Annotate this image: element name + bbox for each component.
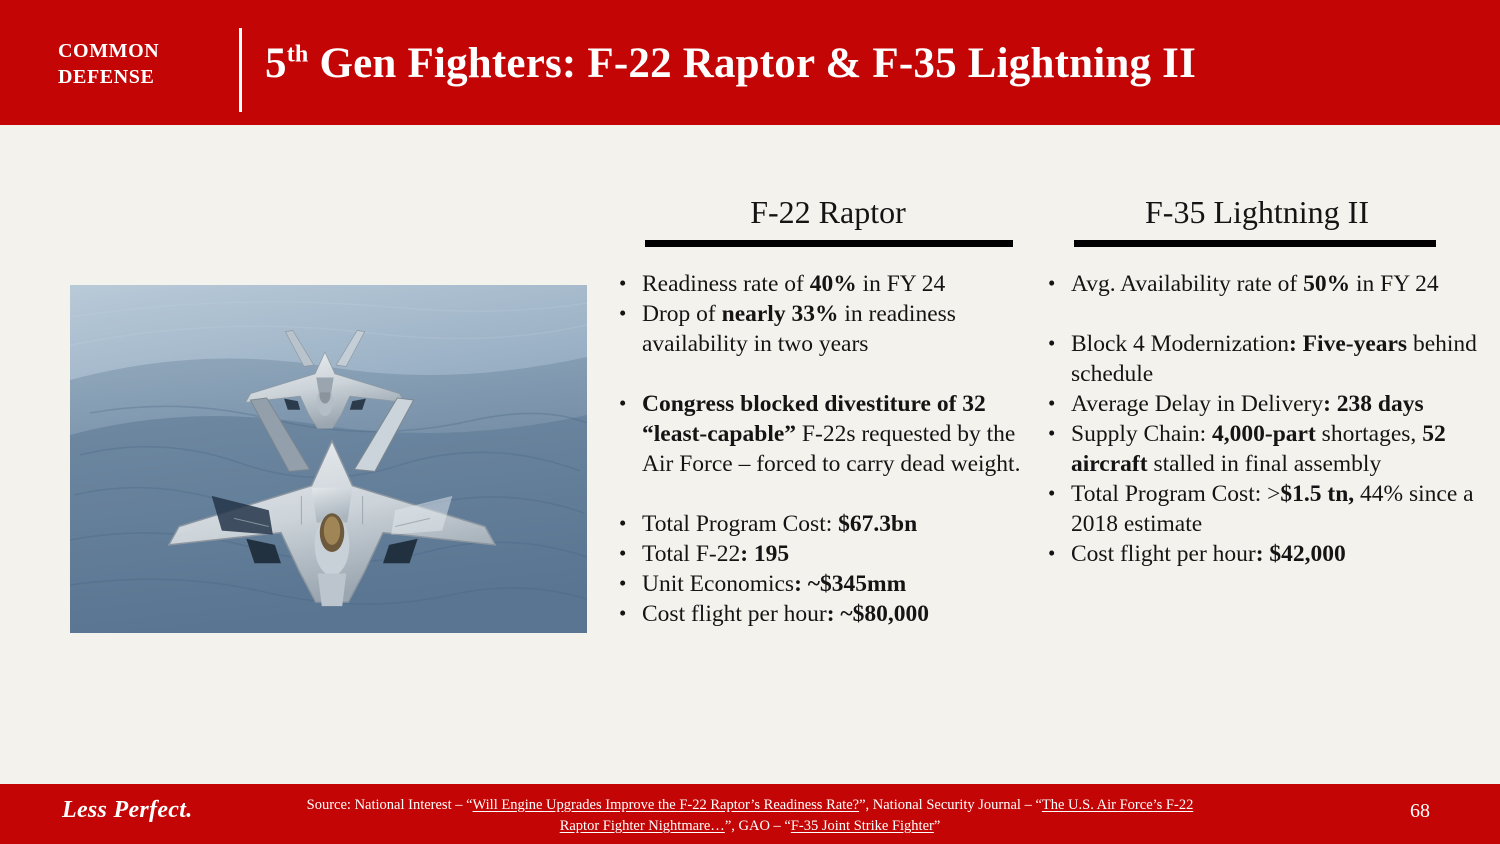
source-link[interactable]: Will Engine Upgrades Improve the F-22 Ra… [473,797,860,813]
photo-illustration [70,285,587,633]
source-link[interactable]: F-35 Joint Strike Fighter [791,818,934,834]
column-heading-f22: F-22 Raptor [612,192,1044,232]
bullet-text: Avg. Availability rate of [1071,271,1303,297]
bullet-text: stalled in final assembly [1148,451,1382,477]
bullet-item: Total Program Cost: $67.3bn [612,509,1044,539]
brand-line-2: DEFENSE [58,64,228,90]
bullet-text: Total F-22 [642,541,740,567]
bullet-text-emphasis: : 238 days [1323,391,1424,417]
bullet-item: Block 4 Modernization: Five-years behind… [1041,329,1486,389]
column-heading-f35: F-35 Lightning II [1041,192,1473,232]
bullet-item: Unit Economics: ~$345mm [612,569,1044,599]
bullet-list-f22: Readiness rate of 40% in FY 24Drop of ne… [612,269,1044,629]
bullet-spacer [612,479,1044,509]
bullet-item: Congress blocked divestiture of 32 “leas… [612,389,1044,479]
bullet-text: Readiness rate of [642,271,810,297]
bullet-text: Total Program Cost: [642,511,838,537]
bullet-item: Average Delay in Delivery: 238 days [1041,389,1486,419]
header-bar: COMMON DEFENSE 5th Gen Fighters: F-22 Ra… [0,0,1500,125]
column-f35: F-35 Lightning II Avg. Availability rate… [1041,192,1486,569]
title-rest: Gen Fighters: F-22 Raptor & F-35 Lightni… [309,40,1197,87]
title-prefix: 5 [265,40,287,87]
bullet-item: Supply Chain: 4,000-part shortages, 52 a… [1041,419,1486,479]
f22-formation-photo [70,285,587,633]
bullet-text-emphasis: 4,000-part [1212,421,1316,447]
bullet-spacer [1041,299,1486,329]
bullet-text-emphasis: : Five-years [1289,331,1407,357]
bullet-item: Cost flight per hour: ~$80,000 [612,599,1044,629]
bullet-item: Cost flight per hour: $42,000 [1041,539,1486,569]
column-rule-f22 [645,240,1013,247]
footer-logo: Less Perfect. [62,797,193,824]
bullet-text: Drop of [642,301,722,327]
bullet-text-emphasis: $1.5 tn, [1280,481,1354,507]
source-text: ” [934,818,940,834]
bullet-text: Cost flight per hour [642,601,827,627]
bullet-spacer [612,359,1044,389]
page-title: 5th Gen Fighters: F-22 Raptor & F-35 Lig… [265,38,1196,90]
column-rule-f35 [1074,240,1436,247]
bullet-text: Average Delay in Delivery [1071,391,1323,417]
source-text: ”, GAO – “ [725,818,791,834]
bullet-text-emphasis: $67.3bn [838,511,917,537]
bullet-text-emphasis: : 195 [740,541,789,567]
bullet-text-emphasis: : ~$80,000 [827,601,929,627]
footer-source-citation: Source: National Interest – “Will Engine… [300,795,1200,837]
bullet-text-emphasis: 40% [810,271,857,297]
page-number: 68 [1410,800,1430,823]
title-ordinal-suffix: th [287,42,309,68]
bullet-text: Unit Economics [642,571,794,597]
brand-line-1: COMMON [58,40,159,62]
bullet-text: Supply Chain: [1071,421,1212,447]
slide-canvas: COMMON DEFENSE 5th Gen Fighters: F-22 Ra… [0,0,1500,844]
bullet-item: Avg. Availability rate of 50% in FY 24 [1041,269,1486,299]
bullet-text: shortages, [1316,421,1422,447]
bullet-item: Total Program Cost: >$1.5 tn, 44% since … [1041,479,1486,539]
bullet-text: in FY 24 [1350,271,1439,297]
bullet-text: Block 4 Modernization [1071,331,1289,357]
bullet-text-emphasis: nearly 33% [722,301,839,327]
bullet-item: Total F-22: 195 [612,539,1044,569]
bullet-list-f35: Avg. Availability rate of 50% in FY 24Bl… [1041,269,1486,569]
brand-logo: COMMON DEFENSE [58,38,228,90]
bullet-text: in FY 24 [857,271,946,297]
source-text: Source: National Interest – “ [307,797,473,813]
header-divider [239,28,242,112]
bullet-text-emphasis: 50% [1303,271,1350,297]
bullet-item: Readiness rate of 40% in FY 24 [612,269,1044,299]
bullet-text-emphasis: : ~$345mm [794,571,906,597]
bullet-item: Drop of nearly 33% in readiness availabi… [612,299,1044,359]
column-f22: F-22 Raptor Readiness rate of 40% in FY … [612,192,1044,629]
bullet-text-emphasis: : $42,000 [1256,541,1346,567]
bullet-text: Cost flight per hour [1071,541,1256,567]
bullet-text: Total Program Cost: > [1071,481,1280,507]
source-text: ”, National Security Journal – “ [859,797,1042,813]
